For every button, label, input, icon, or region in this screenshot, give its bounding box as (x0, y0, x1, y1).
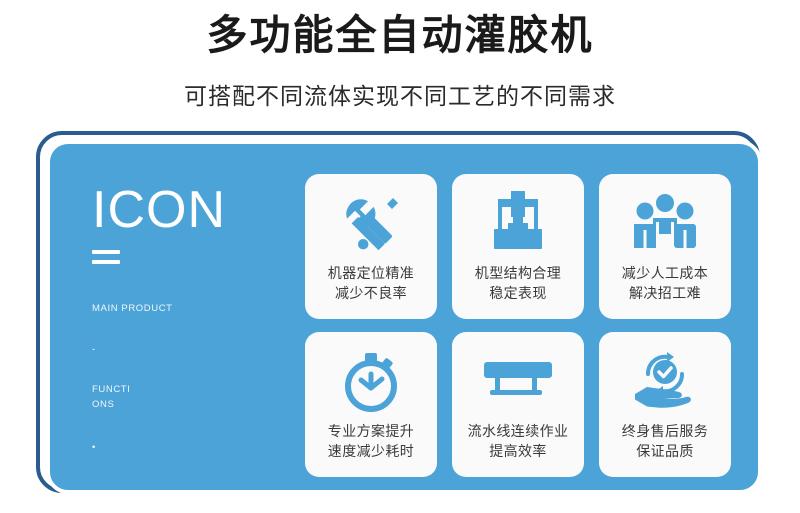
feature-card[interactable]: 机型结构合理 稳定表现 (452, 174, 584, 319)
feature-card-line-2: 减少不良率 (328, 284, 414, 304)
feature-card-line-1: 流水线连续作业 (468, 422, 569, 442)
wrench-screwdriver-icon (305, 184, 437, 262)
brand-column: ICON MAIN PRODUCT - FUNCTI ONS • (92, 184, 257, 456)
feature-card-line-2: 解决招工难 (622, 284, 708, 304)
brand-meta-line-2: PRODUCT (121, 303, 172, 314)
conveyor-line-icon (452, 342, 584, 420)
feature-card-line-1: 机型结构合理 (475, 264, 561, 284)
feature-panel: ICON MAIN PRODUCT - FUNCTI ONS • (36, 131, 766, 499)
feature-card-line-2: 提高效率 (468, 442, 569, 462)
feature-card-line-2: 稳定表现 (475, 284, 561, 304)
page-subtitle: 可搭配不同流体实现不同工艺的不同需求 (0, 61, 800, 111)
brand-meta-line-4: ONS (92, 399, 114, 410)
feature-card[interactable]: 专业方案提升 速度减少耗时 (305, 332, 437, 477)
feature-card-text: 终身售后服务 保证品质 (622, 422, 708, 462)
brand-dot: • (92, 441, 257, 456)
feature-card-text: 减少人工成本 解决招工难 (622, 264, 708, 304)
feature-card-text: 机型结构合理 稳定表现 (475, 264, 561, 304)
feature-card-line-2: 保证品质 (622, 442, 708, 462)
equals-mark-icon (92, 250, 120, 264)
feature-card[interactable]: 终身售后服务 保证品质 (599, 332, 731, 477)
brand-meta-line-3: FUNCTI (92, 383, 257, 398)
brand-dash: - (92, 343, 257, 358)
feature-card[interactable]: 减少人工成本 解决招工难 (599, 174, 731, 319)
hand-check-service-icon (599, 342, 731, 420)
brand-meta: MAIN PRODUCT - FUNCTI ONS • (92, 302, 257, 456)
machine-structure-icon (452, 184, 584, 262)
brand-meta-line-1: MAIN (92, 303, 118, 314)
three-people-icon (599, 184, 731, 262)
feature-card-line-1: 专业方案提升 (328, 422, 414, 442)
panel-body: ICON MAIN PRODUCT - FUNCTI ONS • (46, 140, 762, 494)
brand-title: ICON (92, 184, 257, 236)
feature-card-text: 机器定位精准 减少不良率 (328, 264, 414, 304)
page-header: 多功能全自动灌胶机 可搭配不同流体实现不同工艺的不同需求 (0, 0, 800, 111)
stopwatch-icon (305, 342, 437, 420)
feature-card[interactable]: 流水线连续作业 提高效率 (452, 332, 584, 477)
feature-card-line-1: 机器定位精准 (328, 264, 414, 284)
feature-card-grid: 机器定位精准 减少不良率 (305, 174, 737, 477)
page-title: 多功能全自动灌胶机 (0, 6, 800, 61)
feature-card-line-2: 速度减少耗时 (328, 442, 414, 462)
feature-card-line-1: 终身售后服务 (622, 422, 708, 442)
feature-card-text: 专业方案提升 速度减少耗时 (328, 422, 414, 462)
feature-card-text: 流水线连续作业 提高效率 (468, 422, 569, 462)
feature-card[interactable]: 机器定位精准 减少不良率 (305, 174, 437, 319)
feature-card-line-1: 减少人工成本 (622, 264, 708, 284)
